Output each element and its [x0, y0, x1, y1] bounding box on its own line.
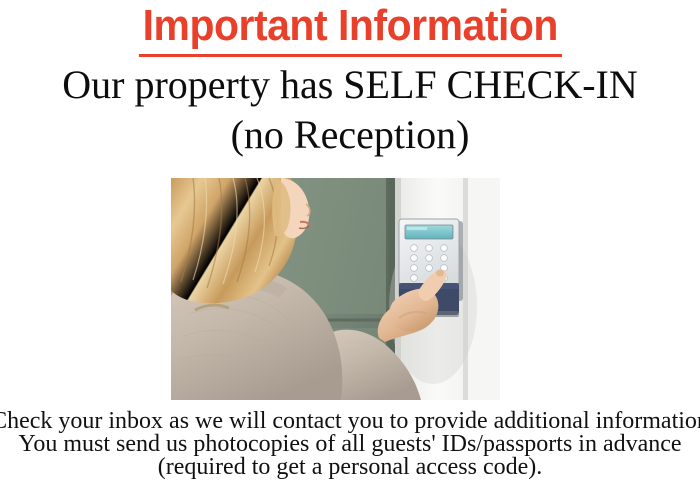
body-line-3: (required to get a personal access code)… [158, 453, 542, 481]
page-title: Important Information [139, 0, 562, 57]
subtitle-line-2: (no Reception) [231, 112, 470, 158]
keypad-photo-illustration [171, 178, 500, 400]
heading-container: Important Information [0, 0, 700, 57]
keypad-photo [171, 178, 500, 400]
notice-page: Important Information Our property has S… [0, 0, 700, 500]
subtitle-line-1: Our property has SELF CHECK-IN [62, 62, 638, 108]
